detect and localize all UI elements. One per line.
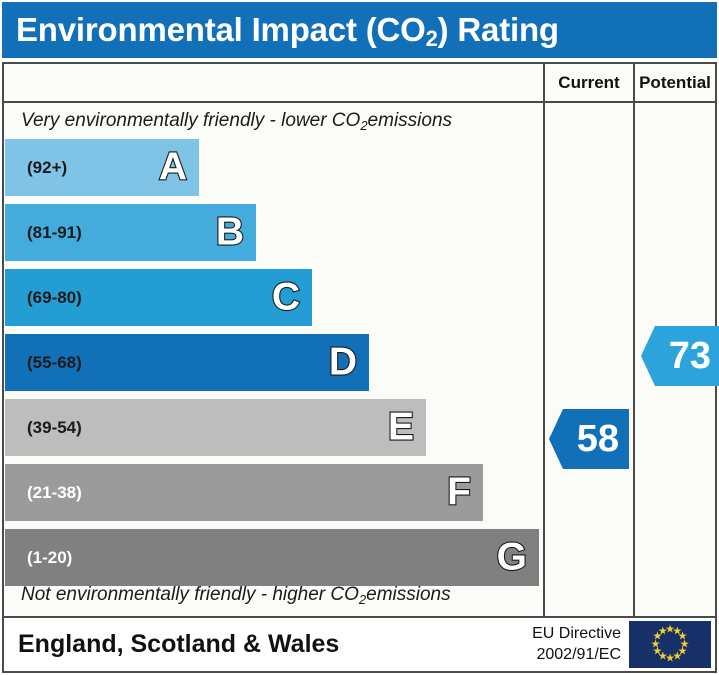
band-letter-d: D [329, 342, 357, 381]
column-divider-current [543, 64, 545, 616]
epc-environmental-impact-chart: Environmental Impact (CO2) Rating Curren… [0, 0, 719, 675]
band-letter-e: E [388, 407, 414, 446]
band-range-label: (1-20) [5, 548, 72, 568]
page-title: Environmental Impact (CO2) Rating [2, 11, 559, 49]
band-letter-a: A [159, 147, 187, 186]
caption-bottom-suffix: emissions [366, 584, 450, 606]
rating-band-a: (92+)A [5, 139, 199, 196]
caption-top: Very environmentally friendly - lower CO… [4, 103, 543, 139]
eu-directive-line1: EU Directive [532, 624, 621, 644]
band-range-label: (69-80) [5, 288, 82, 308]
rating-band-e: (39-54)E [5, 399, 426, 456]
eu-directive-line2: 2002/91/EC [532, 645, 621, 665]
caption-bottom: Not environmentally friendly - higher CO… [4, 577, 543, 613]
title-prefix: Environmental Impact (CO [16, 11, 426, 48]
current-rating-value: 58 [577, 420, 619, 458]
footer-region-label: England, Scotland & Wales [4, 630, 339, 659]
rating-band-f: (21-38)F [5, 464, 483, 521]
eu-directive-text: EU Directive 2002/91/EC [532, 624, 629, 665]
chart-title-bar: Environmental Impact (CO2) Rating [2, 2, 717, 58]
band-letter-f: F [447, 472, 471, 511]
title-suffix: ) Rating [438, 11, 559, 48]
caption-bottom-prefix: Not environmentally friendly - higher CO [21, 584, 359, 606]
band-letter-c: C [272, 277, 300, 316]
eu-star-icon: ★ [658, 626, 668, 637]
caption-top-prefix: Very environmentally friendly - lower CO [21, 110, 360, 132]
potential-rating-marker: 73 [641, 326, 719, 386]
rating-band-d: (55-68)D [5, 334, 369, 391]
caption-top-suffix: emissions [368, 110, 452, 132]
band-letter-b: B [216, 212, 244, 251]
eu-flag-icon: ★★★★★★★★★★★★ [629, 621, 711, 668]
caption-bottom-subscript: 2 [359, 592, 366, 607]
rating-band-b: (81-91)B [5, 204, 256, 261]
title-subscript: 2 [426, 26, 438, 51]
rating-bands: (92+)A(81-91)B(69-80)C(55-68)D(39-54)E(2… [4, 139, 543, 577]
band-range-label: (81-91) [5, 223, 82, 243]
current-rating-marker: 58 [549, 409, 629, 469]
band-range-label: (55-68) [5, 353, 82, 373]
caption-top-subscript: 2 [360, 118, 367, 133]
rating-band-c: (69-80)C [5, 269, 312, 326]
potential-rating-value: 73 [669, 337, 711, 375]
band-range-label: (39-54) [5, 418, 82, 438]
column-divider-potential [633, 64, 635, 616]
chart-footer: England, Scotland & Wales EU Directive 2… [4, 618, 715, 671]
column-header-potential: Potential [635, 64, 715, 101]
band-range-label: (92+) [5, 158, 67, 178]
footer-directive-block: EU Directive 2002/91/EC ★★★★★★★★★★★★ [532, 620, 711, 669]
chart-frame: Current Potential Very environmentally f… [2, 62, 717, 673]
band-range-label: (21-38) [5, 483, 82, 503]
band-letter-g: G [497, 537, 527, 576]
column-header-current: Current [545, 64, 633, 101]
